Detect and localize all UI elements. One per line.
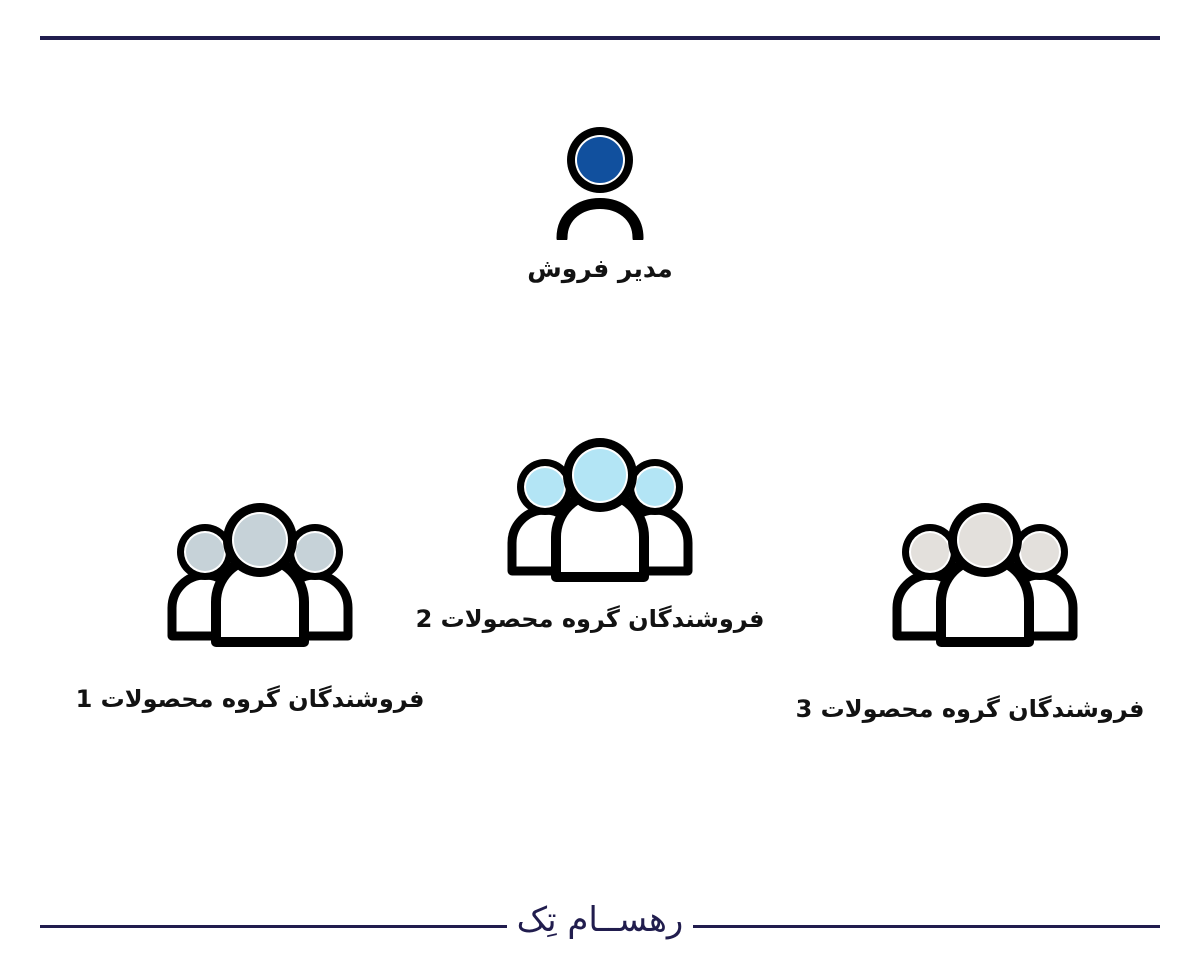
footer: رهســام تِک [40, 896, 1160, 956]
org-node-group-2: فروشندگان گروه محصولات 2 [485, 425, 700, 585]
footer-rule-right [693, 925, 1160, 928]
org-node-group-3-label: فروشندگان گروه محصولات 3 [760, 695, 1180, 723]
org-node-group-2-label: فروشندگان گروه محصولات 2 [380, 605, 800, 633]
org-node-manager-label: مدیر فروش [470, 254, 730, 283]
people-group-icon [885, 490, 1085, 650]
people-group-icon [500, 425, 700, 585]
org-node-group-1: فروشندگان گروه محصولات 1 [110, 490, 360, 650]
diagram-canvas: مدیر فروش فروشندگان گروه محصولات 1 [0, 0, 1200, 960]
people-group-icon [160, 490, 360, 650]
footer-rule-left [40, 925, 507, 928]
brand-logo-text: رهســام تِک [507, 903, 694, 937]
org-node-group-1-label: فروشندگان گروه محصولات 1 [40, 685, 460, 713]
org-node-group-3: فروشندگان گروه محصولات 3 [870, 490, 1085, 650]
org-node-manager: مدیر فروش [470, 120, 730, 283]
single-person-icon [540, 120, 660, 240]
top-divider-rule [40, 36, 1160, 40]
